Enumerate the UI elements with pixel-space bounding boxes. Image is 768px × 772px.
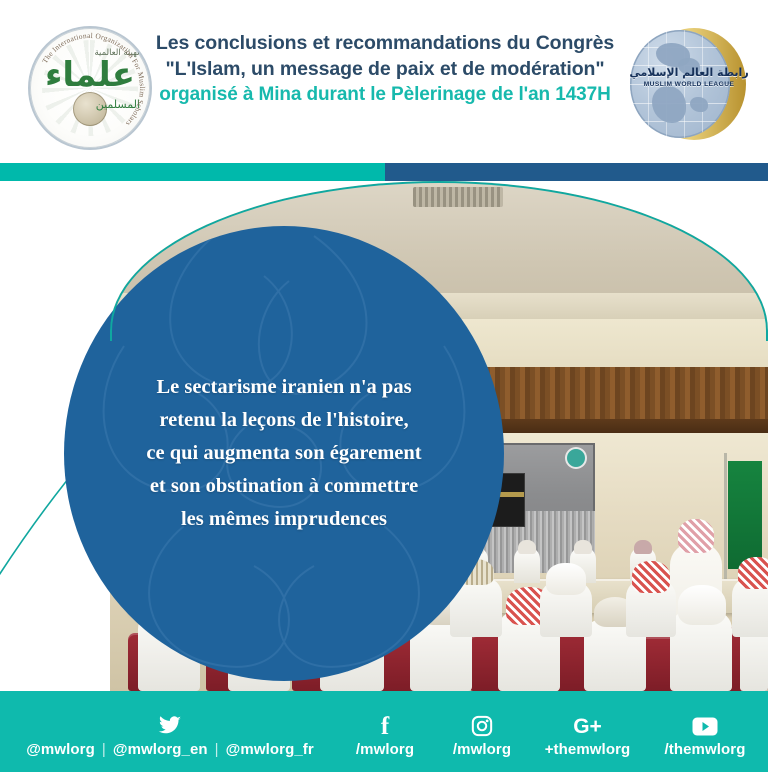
quote-bubble: Le sectarisme iranien n'a pas retenu la … <box>64 226 504 681</box>
social-facebook[interactable]: f /mwlorg <box>330 713 440 758</box>
logo-right-arabic-text: رابطة العالم الإسلامي <box>628 66 750 79</box>
header-title-block: Les conclusions et recommandations du Co… <box>150 30 620 109</box>
quote-line-3: ce qui augmenta son égarement <box>90 437 478 470</box>
logo-muslim-world-league: رابطة العالم الإسلامي MUSLIM WORLD LEAGU… <box>628 24 750 146</box>
main-content: واعتصموا بحبل <box>0 181 768 691</box>
twitter-handles: @mwlorg | @mwlorg_en | @mwlorg_fr <box>10 741 330 758</box>
social-twitter[interactable]: @mwlorg | @mwlorg_en | @mwlorg_fr <box>10 713 330 758</box>
divider-segment-navy <box>385 163 768 181</box>
twitter-handle-1[interactable]: @mwlorg <box>26 741 95 758</box>
quote-line-4: et son obstination à commettre <box>90 470 478 503</box>
youtube-label: /themwlorg <box>645 741 765 758</box>
twitter-handle-3[interactable]: @mwlorg_fr <box>226 741 314 758</box>
header-title-line2: "L'Islam, un message de paix et de modér… <box>150 56 620 82</box>
social-youtube[interactable]: /themwlorg <box>645 713 765 758</box>
social-footer: @mwlorg | @mwlorg_en | @mwlorg_fr f /mwl… <box>0 691 768 772</box>
facebook-icon: f <box>330 713 440 739</box>
logo-left-ring-text: The International Organization For Musli… <box>30 28 150 148</box>
divider-bar <box>0 163 768 181</box>
social-google-plus[interactable]: G+ +themwlorg <box>515 713 660 758</box>
quote-line-1: Le sectarisme iranien n'a pas <box>90 370 478 403</box>
poster-logo-icon <box>567 449 585 467</box>
page-header: الهيئة العالمية علماء المسلمين The Inter… <box>0 0 768 163</box>
twitter-icon <box>10 713 330 739</box>
twitter-separator-1: | <box>102 741 106 758</box>
header-title-line1: Les conclusions et recommandations du Co… <box>150 30 620 56</box>
google-plus-icon: G+ <box>515 713 660 739</box>
header-title-line3: organisé à Mina durant le Pèlerinage de … <box>150 82 620 109</box>
quote-line-2: retenu la leçons de l'histoire, <box>90 404 478 437</box>
quote-text: Le sectarisme iranien n'a pas retenu la … <box>64 370 504 536</box>
quote-line-5: les mêmes imprudences <box>90 503 478 536</box>
divider-segment-teal <box>0 163 385 181</box>
twitter-separator-2: | <box>215 741 219 758</box>
logo-right-english-text: MUSLIM WORLD LEAGUE <box>628 81 750 88</box>
svg-text:The International Organization: The International Organization For Musli… <box>40 31 147 128</box>
google-plus-label: +themwlorg <box>515 741 660 758</box>
logo-international-organization-for-muslim-scholars: الهيئة العالمية علماء المسلمين The Inter… <box>28 26 152 150</box>
facebook-label: /mwlorg <box>330 741 440 758</box>
saudi-flag-icon <box>728 461 762 569</box>
twitter-handle-2[interactable]: @mwlorg_en <box>113 741 208 758</box>
youtube-icon <box>645 713 765 739</box>
